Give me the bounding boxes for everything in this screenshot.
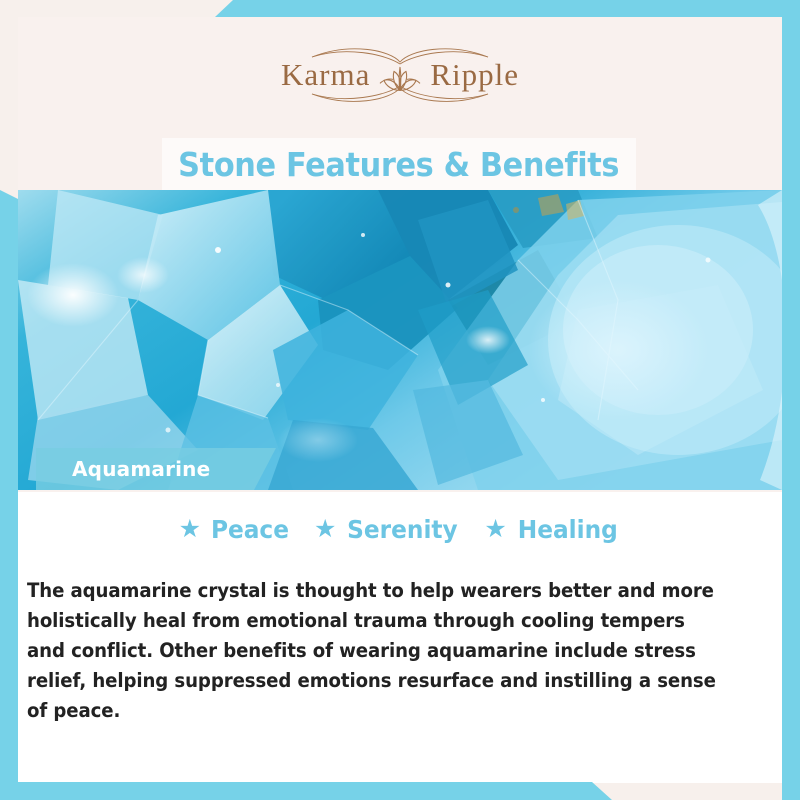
keyword-row: ★ Peace ★ Serenity ★ Healing xyxy=(18,508,782,550)
stone-name-label: Aquamarine xyxy=(36,457,210,481)
keyword-label-healing: Healing xyxy=(518,515,618,544)
crystal-photo: Aquamarine xyxy=(18,190,782,490)
frame-band-bottom xyxy=(0,782,612,800)
keyword-item-peace: ★ Peace xyxy=(179,515,292,544)
page-title: Stone Features & Benefits xyxy=(179,145,620,184)
lotus-flower-icon xyxy=(373,59,427,93)
frame-band-right xyxy=(782,0,800,800)
brand-name-right: Ripple xyxy=(430,57,519,93)
description-paragraph: The aquamarine crystal is thought to hel… xyxy=(27,576,721,726)
keyword-label-serenity: Serenity xyxy=(348,515,459,544)
keyword-label-peace: Peace xyxy=(211,515,289,544)
star-icon: ★ xyxy=(314,517,336,542)
frame-band-top xyxy=(215,0,800,17)
star-icon: ★ xyxy=(179,517,201,542)
keyword-item-serenity: ★ Serenity xyxy=(314,515,462,544)
poster-canvas: Karma Ripple Stone Features & Benefits xyxy=(0,0,800,800)
brand-name-left: Karma xyxy=(281,57,370,93)
crystal-photo-artwork xyxy=(18,190,782,490)
star-icon: ★ xyxy=(484,517,506,542)
brand-logo: Karma Ripple xyxy=(0,40,800,110)
stone-name-ribbon: Aquamarine xyxy=(36,448,276,490)
headline-card: Stone Features & Benefits xyxy=(162,138,636,190)
frame-band-left xyxy=(0,190,18,800)
keyword-item-healing: ★ Healing xyxy=(484,515,621,544)
